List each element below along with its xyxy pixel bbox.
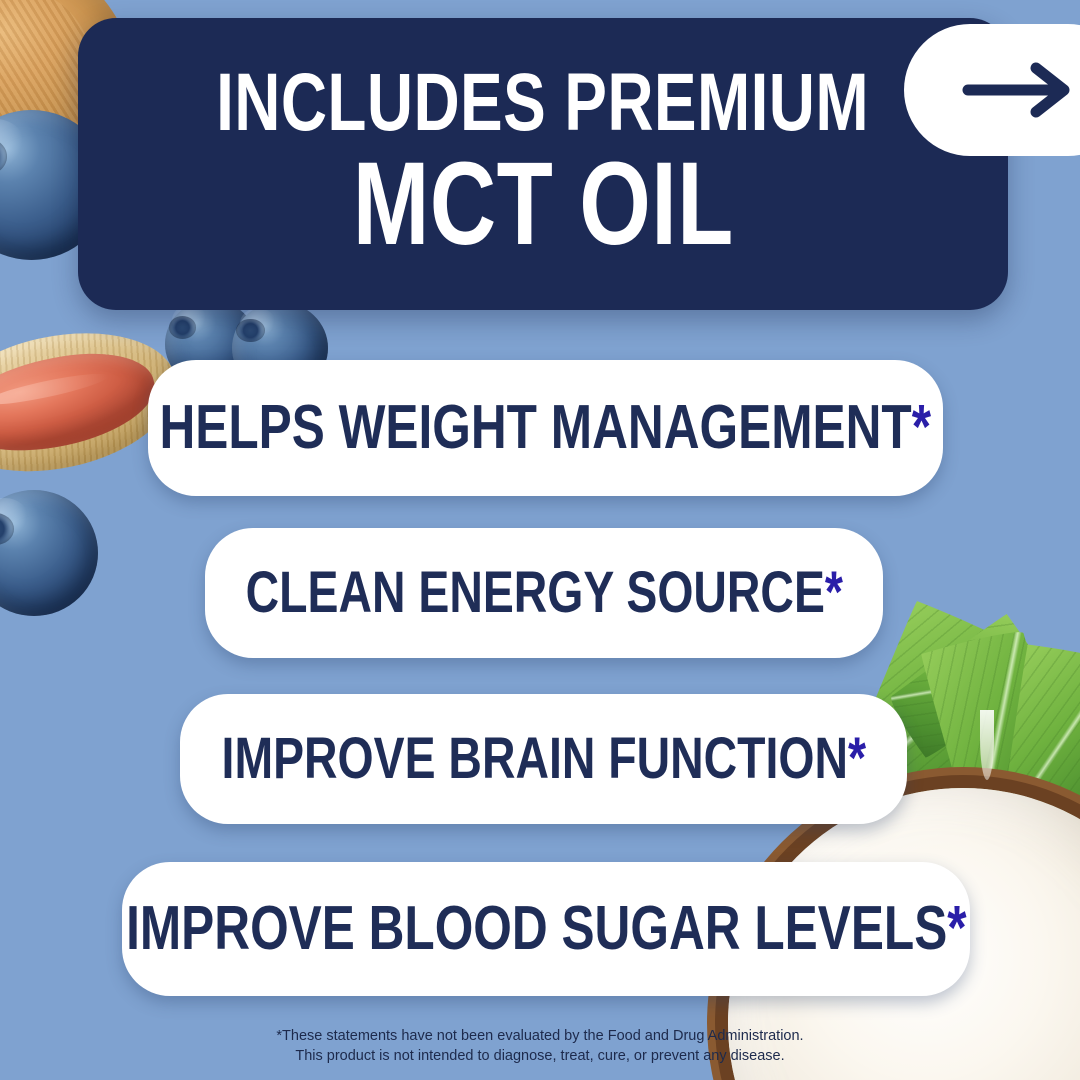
fda-disclaimer: *These statements have not been evaluate… xyxy=(0,1027,1080,1066)
arrow-right-icon xyxy=(960,62,1078,118)
leaf-image xyxy=(919,625,1078,854)
asterisk-marker: * xyxy=(947,894,966,963)
benefit-label: CLEAN ENERGY SOURCE* xyxy=(245,564,842,622)
benefit-label: IMPROVE BRAIN FUNCTION* xyxy=(221,730,865,788)
asterisk-marker: * xyxy=(912,393,931,462)
benefit-pill-1[interactable]: HELPS WEIGHT MANAGEMENT* xyxy=(148,360,943,496)
benefit-label: IMPROVE BLOOD SUGAR LEVELS* xyxy=(126,898,967,960)
disclaimer-line-1: *These statements have not been evaluate… xyxy=(0,1027,1080,1046)
headline-line-2: MCT OIL xyxy=(352,149,733,260)
peanut-kernel xyxy=(0,339,163,466)
next-arrow-button[interactable] xyxy=(904,24,1080,156)
disclaimer-line-2: This product is not intended to diagnose… xyxy=(0,1047,1080,1066)
asterisk-marker: * xyxy=(825,560,843,625)
header-panel: INCLUDES PREMIUM MCT OIL xyxy=(78,18,1008,310)
leaf-image xyxy=(885,613,1050,761)
benefit-pill-4[interactable]: IMPROVE BLOOD SUGAR LEVELS* xyxy=(122,862,970,996)
promo-graphic: INCLUDES PREMIUM MCT OIL HELPS WEIGHT MA… xyxy=(0,0,1080,1080)
coconut-drip xyxy=(980,710,994,780)
asterisk-marker: * xyxy=(848,726,866,791)
benefit-label: HELPS WEIGHT MANAGEMENT* xyxy=(160,397,932,459)
benefit-pill-3[interactable]: IMPROVE BRAIN FUNCTION* xyxy=(180,694,907,824)
blueberry-image xyxy=(0,490,98,616)
headline-line-1: INCLUDES PREMIUM xyxy=(217,64,870,141)
leaf-image xyxy=(999,644,1080,851)
benefit-pill-2[interactable]: CLEAN ENERGY SOURCE* xyxy=(205,528,883,658)
